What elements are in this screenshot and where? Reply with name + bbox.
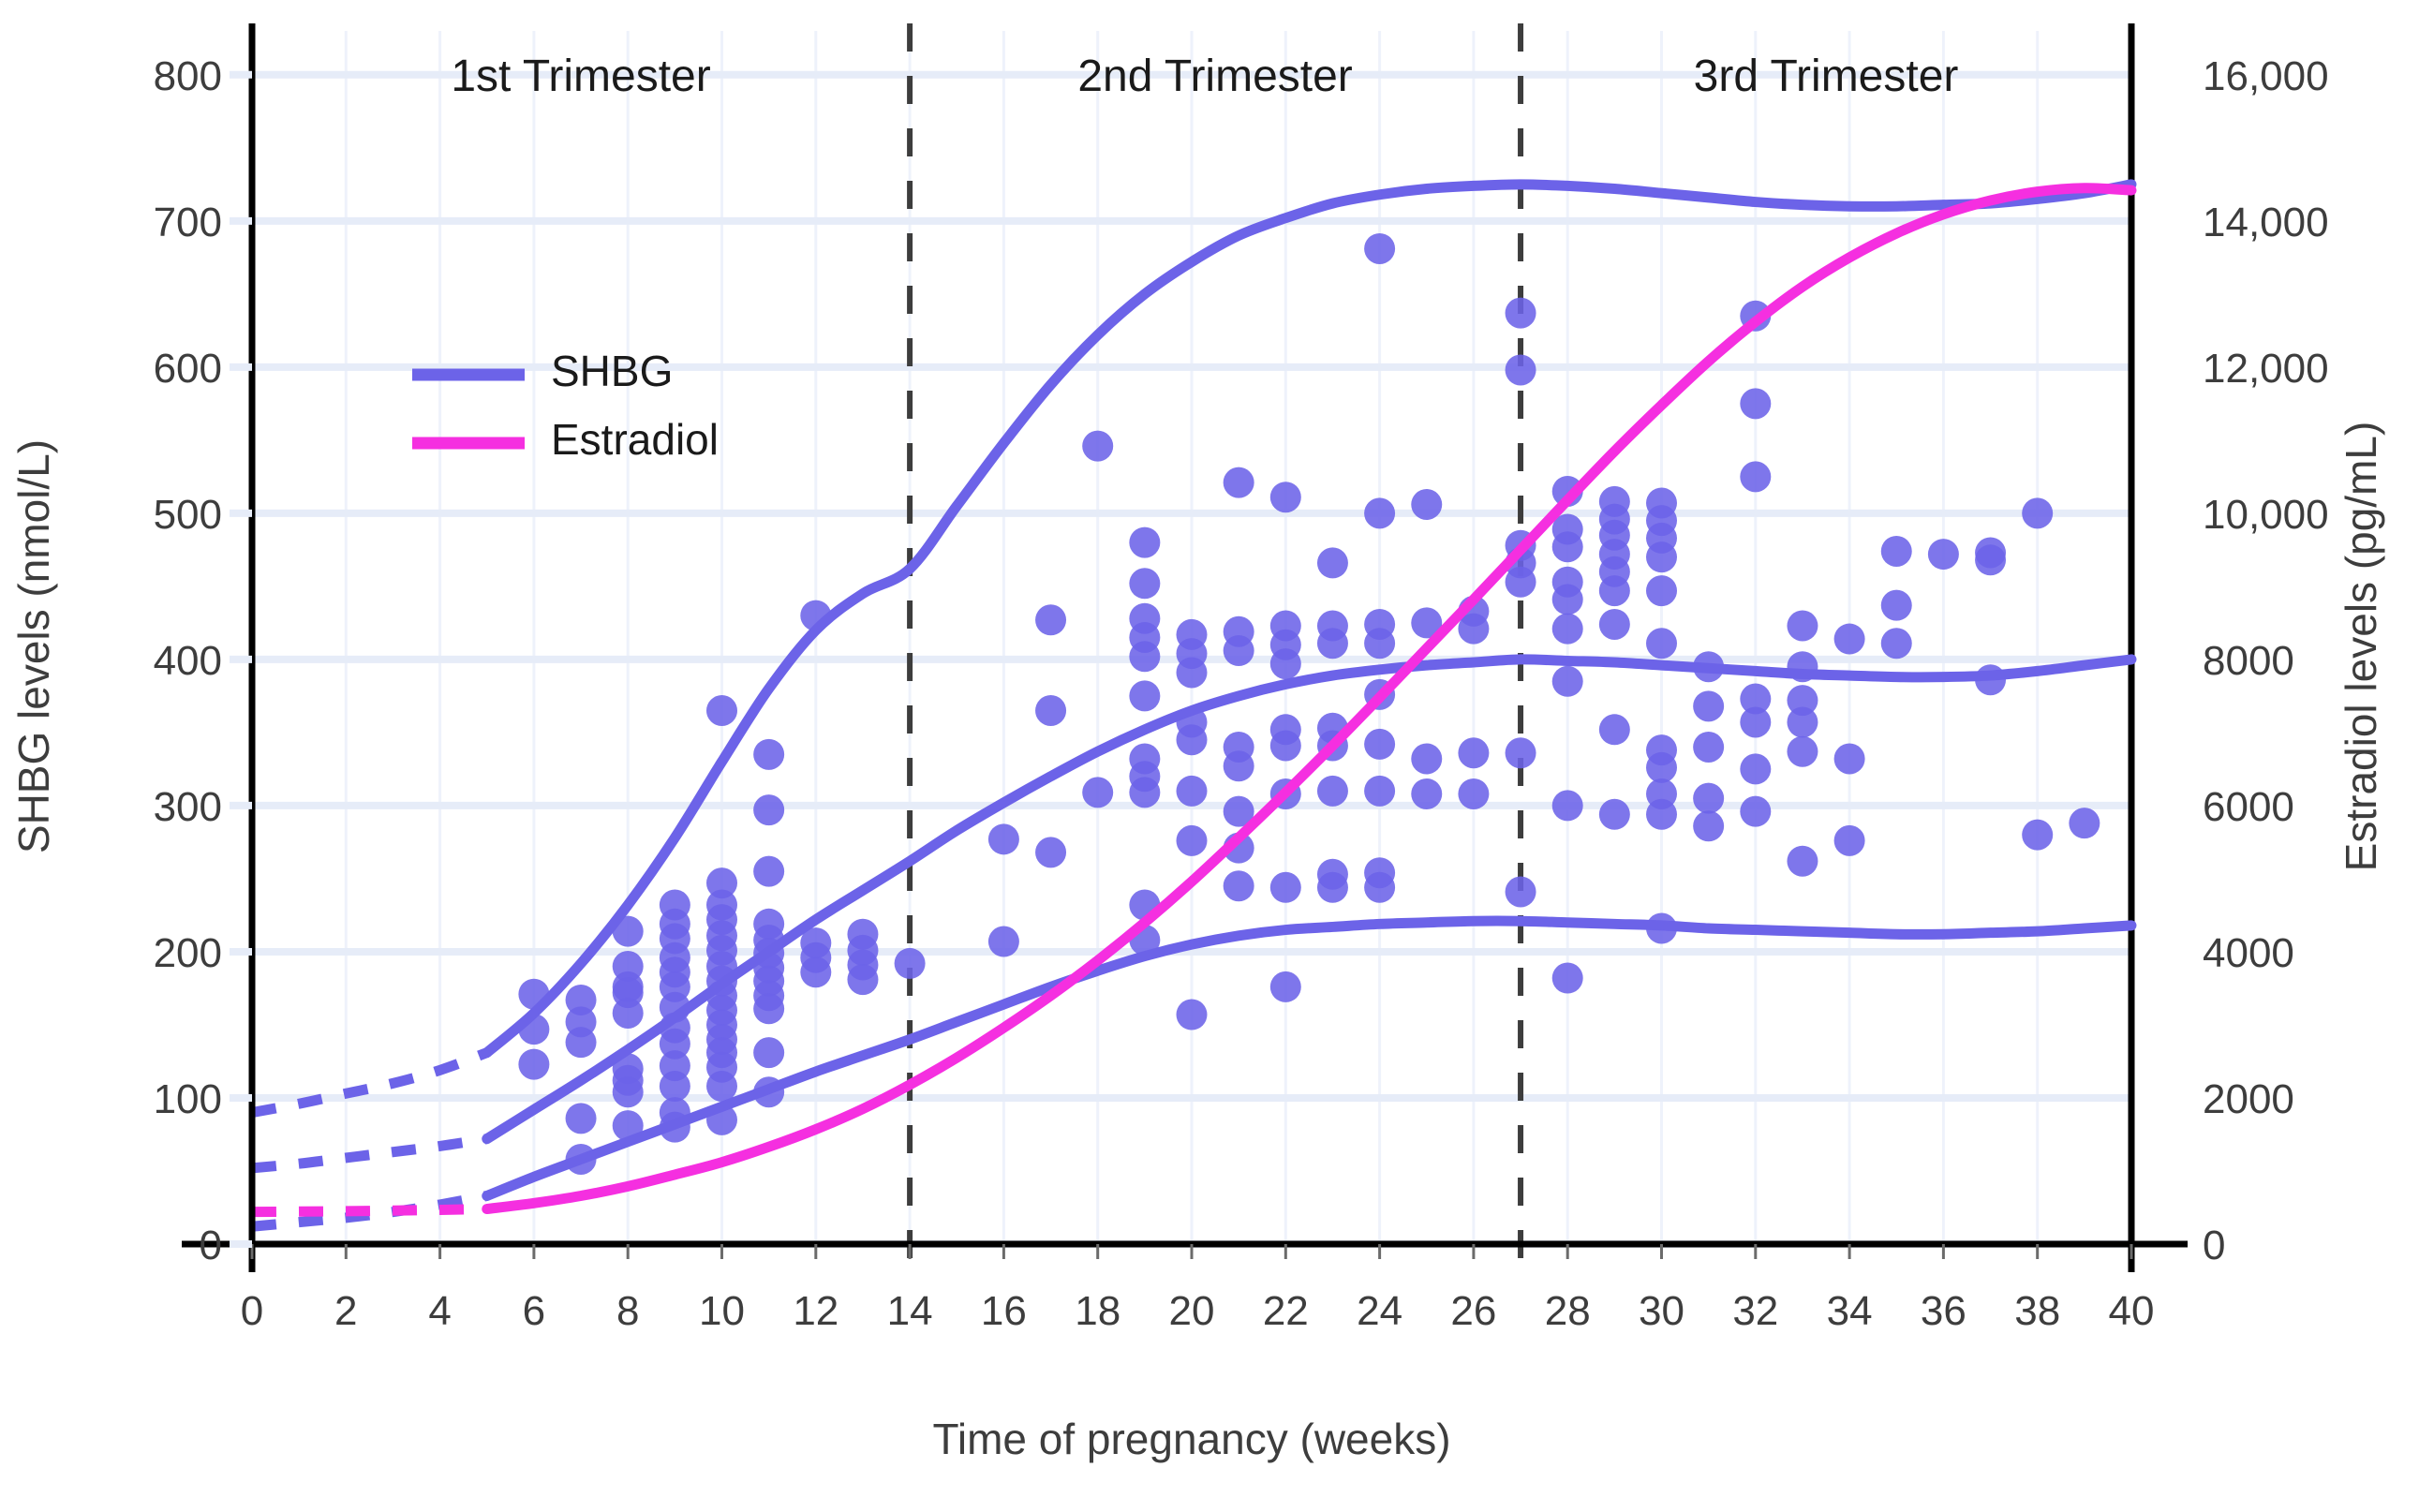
scatter-point [1975,544,2006,575]
legend-label: Estradiol [551,415,719,464]
scatter-point [1787,706,1818,737]
scatter-point [753,739,784,770]
scatter-point [1458,737,1489,768]
x-tick-label: 34 [1827,1288,1873,1334]
scatter-point [753,794,784,825]
scatter-point [1224,635,1254,666]
scatter-point [1646,541,1677,572]
scatter-point [1082,777,1113,808]
scatter-point [1177,776,1208,807]
scatter-point [753,856,784,887]
scatter-point [1740,753,1771,784]
x-tick-label: 26 [1450,1288,1496,1334]
scatter-point [1458,778,1489,809]
scatter-point [1834,825,1865,856]
scatter-point [1599,714,1630,745]
scatter-point [800,956,831,987]
scatter-point [1177,657,1208,688]
x-tick-label: 24 [1357,1288,1402,1334]
scatter-point [566,1103,597,1134]
scatter-point [1834,744,1865,775]
scatter-point [1035,837,1066,867]
trimester-label: 1st Trimester [451,52,710,101]
scatter-point [1270,648,1301,679]
scatter-point [2069,808,2100,838]
scatter-point [1552,531,1583,562]
scatter-point [2022,497,2053,528]
chart-figure: 0246810121416182022242628303234363840010… [0,0,2419,1512]
y-tick-label-left: 500 [154,492,222,538]
y-tick-label-left: 100 [154,1076,222,1122]
scatter-point [1740,388,1771,419]
scatter-point [1270,971,1301,1002]
scatter-point [1129,777,1160,808]
x-tick-label: 2 [334,1288,357,1334]
x-tick-label: 4 [428,1288,451,1334]
scatter-point [753,1037,784,1068]
scatter-point [1082,431,1113,462]
scatter-point [1035,604,1066,635]
scatter-point [518,1049,549,1080]
scatter-point [1177,1000,1208,1030]
scatter-point [1506,298,1536,329]
y-tick-label-left: 600 [154,346,222,392]
scatter-point [1552,614,1583,645]
scatter-point [1035,695,1066,726]
scatter-point [1787,736,1818,767]
x-tick-label: 16 [981,1288,1027,1334]
scatter-point [895,948,926,979]
scatter-point [1599,575,1630,606]
x-axis-title: Time of pregnancy (weeks) [932,1415,1450,1463]
scatter-point [1129,641,1160,672]
scatter-point [1552,963,1583,994]
scatter-point [1224,750,1254,781]
y-tick-label-right: 10,000 [2203,492,2329,538]
x-tick-label: 22 [1263,1288,1309,1334]
scatter-point [1599,609,1630,640]
scatter-point [1552,666,1583,697]
scatter-point [1129,568,1160,599]
scatter-point [1787,611,1818,642]
trimester-label: 3rd Trimester [1694,52,1959,101]
scatter-point [706,695,737,726]
scatter-point [1364,729,1395,760]
scatter-point [1834,624,1865,655]
scatter-point [1270,872,1301,903]
scatter-point [1506,876,1536,907]
scatter-point [1693,810,1724,841]
scatter-point [1646,752,1677,783]
y-tick-label-right: 16,000 [2203,53,2329,99]
x-tick-label: 38 [2014,1288,2060,1334]
x-tick-label: 6 [523,1288,545,1334]
y-tick-label-left: 700 [154,200,222,245]
scatter-point [1177,724,1208,755]
trimester-labels: 1st Trimester2nd Trimester3rd Trimester [451,52,1958,101]
x-tick-label: 32 [1732,1288,1778,1334]
scatter-point [1270,482,1301,512]
scatter-point [753,993,784,1024]
scatter-point [706,1071,737,1102]
scatter-point [1411,489,1442,520]
scatter-point [1411,744,1442,775]
x-tick-label: 14 [887,1288,933,1334]
y-tick-label-right: 2000 [2203,1076,2294,1122]
scatter-point [1740,706,1771,737]
scatter-point [566,1027,597,1058]
scatter-point [1693,783,1724,814]
trimester-label: 2nd Trimester [1077,52,1352,101]
scatter-point [1646,628,1677,659]
scatter-point [1506,737,1536,768]
scatter-point [1599,799,1630,830]
y-axis-title-left: SHBG levels (nmol/L) [9,439,58,853]
y-tick-label-right: 12,000 [2203,346,2329,392]
scatter-point [1881,590,1912,621]
scatter-point [1129,680,1160,711]
scatter-point [1317,547,1348,578]
x-tick-label: 12 [793,1288,838,1334]
scatter-point [1881,628,1912,659]
y-tick-label-left: 200 [154,930,222,976]
scatter-point [1317,872,1348,903]
x-tick-label: 18 [1075,1288,1120,1334]
scatter-point [1552,790,1583,821]
chart-canvas: 0246810121416182022242628303234363840010… [0,0,2419,1512]
y-axis-title-right: Estradiol levels (pg/mL) [2337,422,2385,872]
x-tick-label: 36 [1921,1288,1966,1334]
scatter-point [1317,776,1348,807]
y-tick-label-left: 300 [154,784,222,830]
scatter-point [1224,870,1254,901]
scatter-point [613,1076,644,1107]
figure-background [0,0,2419,1512]
y-tick-label-left: 0 [200,1223,222,1268]
scatter-point [1506,354,1536,385]
y-tick-label-left: 800 [154,53,222,99]
y-tick-label-right: 0 [2203,1223,2225,1268]
scatter-point [1317,628,1348,659]
scatter-point [1177,825,1208,856]
scatter-point [847,964,878,995]
scatter-point [1411,778,1442,809]
scatter-point [1364,628,1395,659]
scatter-point [1740,461,1771,492]
scatter-point [1693,690,1724,721]
scatter-point [1740,796,1771,827]
scatter-point [613,998,644,1029]
scatter-point [1552,584,1583,615]
x-tick-label: 28 [1545,1288,1591,1334]
x-tick-label: 20 [1169,1288,1215,1334]
y-tick-label-right: 4000 [2203,930,2294,976]
scatter-point [2022,820,2053,851]
scatter-point [1364,872,1395,903]
scatter-point [1881,536,1912,567]
scatter-point [1364,776,1395,807]
x-tick-label: 8 [616,1288,639,1334]
x-tick-label: 40 [2109,1288,2155,1334]
scatter-point [660,1071,690,1102]
x-tick-label: 10 [699,1288,745,1334]
x-tick-label: 30 [1639,1288,1684,1334]
scatter-point [1646,799,1677,830]
scatter-point [988,823,1019,854]
scatter-point [1506,567,1536,598]
scatter-point [1646,575,1677,606]
y-tick-label-right: 8000 [2203,638,2294,684]
y-tick-label-right: 6000 [2203,784,2294,830]
y-tick-label-right: 14,000 [2203,200,2329,245]
x-tick-label: 0 [241,1288,263,1334]
scatter-point [1693,732,1724,763]
scatter-point [1364,233,1395,264]
y-tick-label-left: 400 [154,638,222,684]
scatter-point [1224,467,1254,498]
scatter-point [988,926,1019,957]
scatter-point [1129,527,1160,558]
scatter-point [1364,497,1395,528]
scatter-point [1928,539,1959,570]
scatter-point [1270,730,1301,761]
legend-label: SHBG [551,347,673,395]
scatter-point [1787,846,1818,877]
